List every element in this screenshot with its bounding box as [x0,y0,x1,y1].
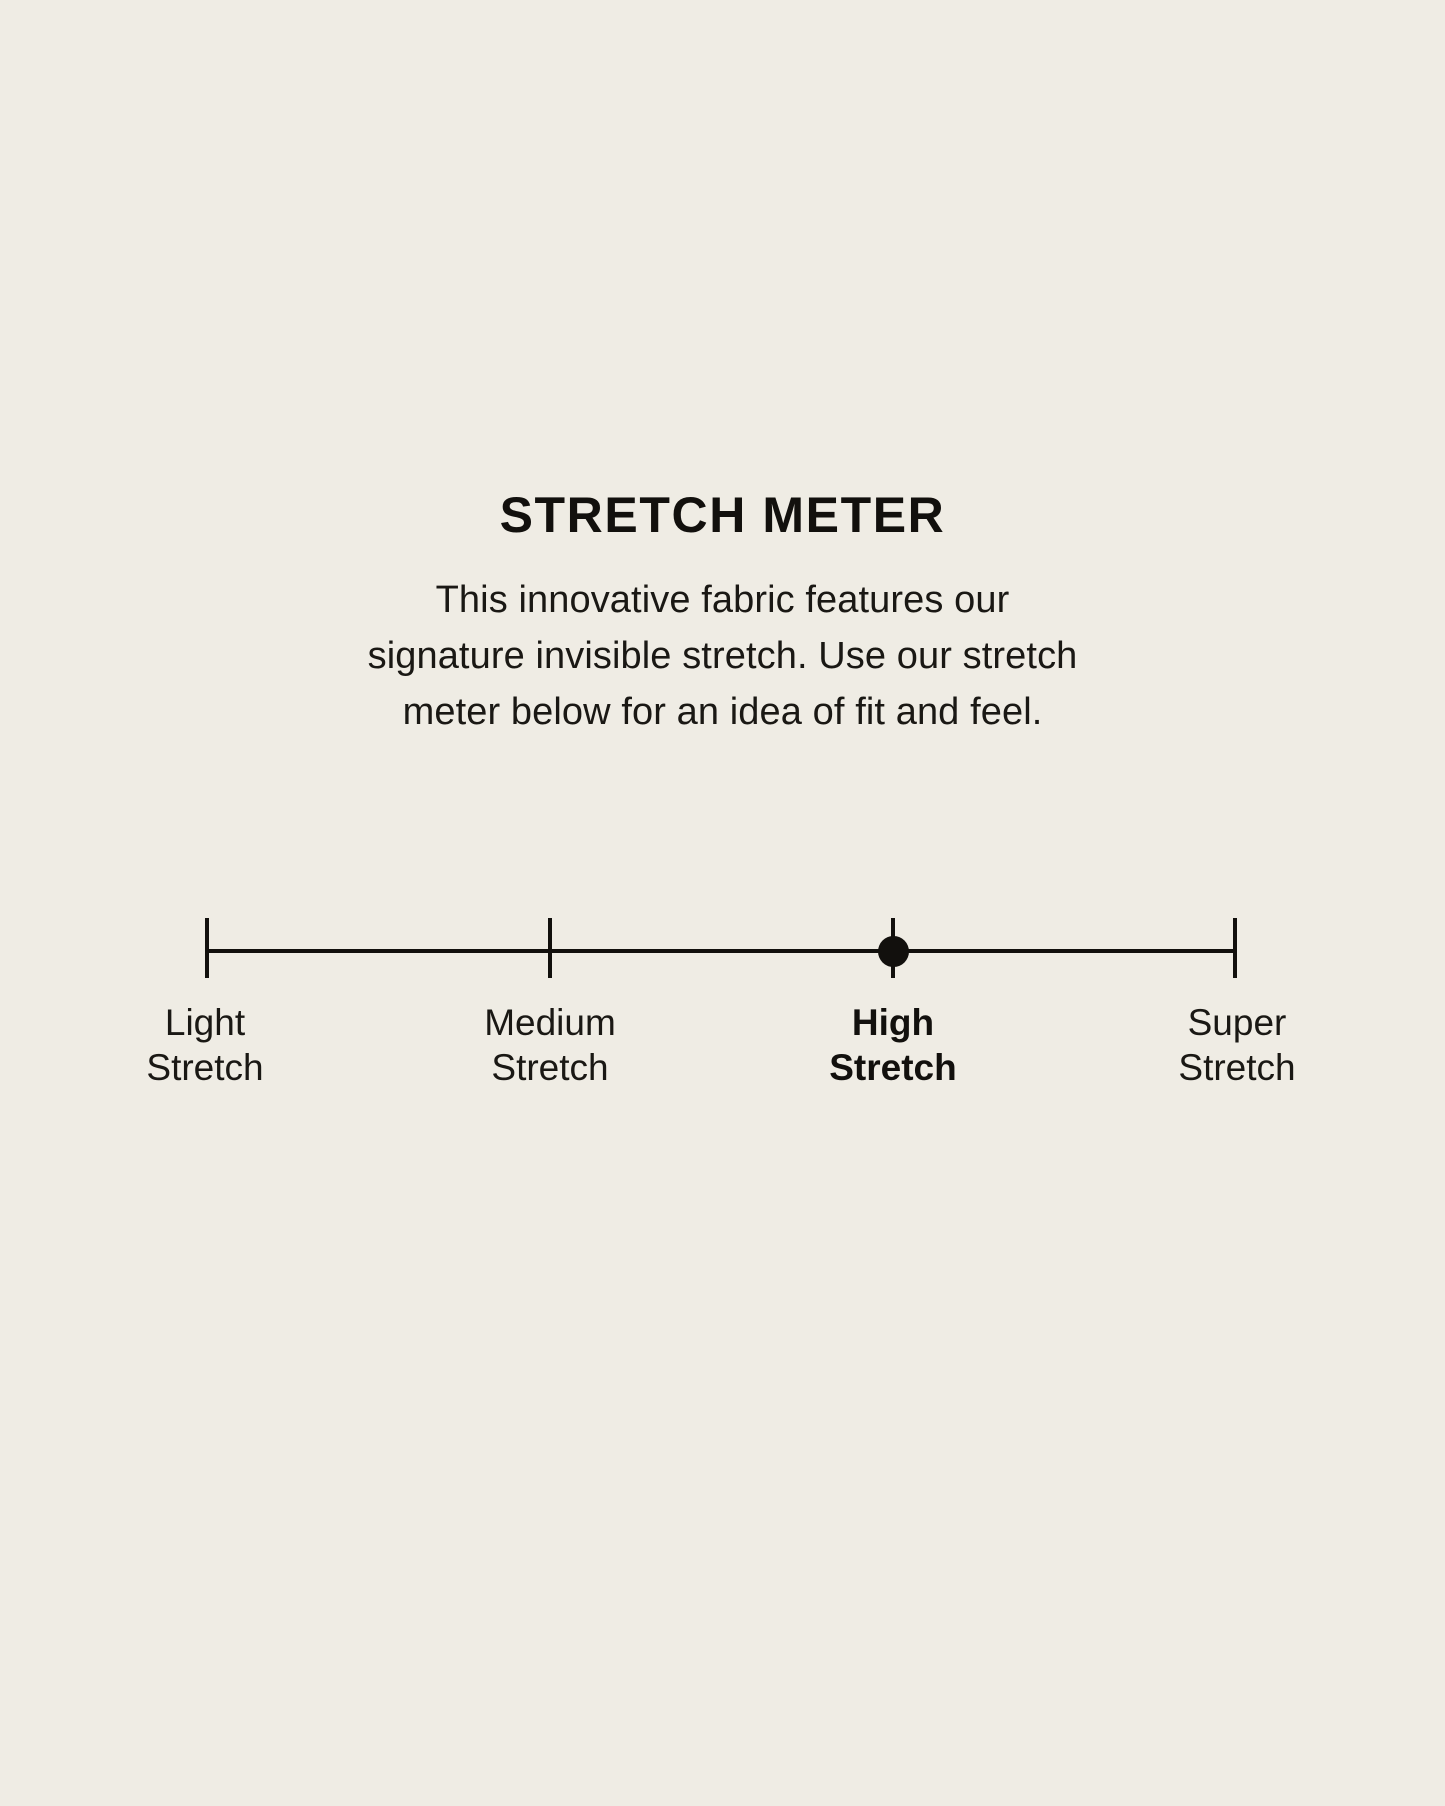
meter-label-light-line2: Stretch [55,1045,355,1090]
meter-label-light[interactable]: Light Stretch [55,1000,355,1090]
meter-label-light-line1: Light [55,1000,355,1045]
meter-label-super[interactable]: Super Stretch [1087,1000,1387,1090]
description-line-2: signature invisible stretch. Use our str… [0,628,1445,684]
meter-label-high[interactable]: High Stretch [743,1000,1043,1090]
meter-label-high-line1: High [743,1000,1043,1045]
meter-value-marker-dot [878,936,909,967]
stretch-meter-scale[interactable] [205,918,1237,978]
meter-axis-line [205,949,1237,953]
meter-tick-super[interactable] [1233,918,1237,978]
meter-label-super-line1: Super [1087,1000,1387,1045]
meter-tick-medium[interactable] [548,918,552,978]
meter-label-row: Light Stretch Medium Stretch High Stretc… [0,1000,1445,1120]
module-description: This innovative fabric features our sign… [0,544,1445,740]
meter-label-medium-line2: Stretch [400,1045,700,1090]
heading-block: STRETCH METER This innovative fabric fea… [0,486,1445,740]
meter-label-medium[interactable]: Medium Stretch [400,1000,700,1090]
stretch-meter-module: STRETCH METER This innovative fabric fea… [0,0,1445,1806]
meter-label-high-line2: Stretch [743,1045,1043,1090]
description-line-1: This innovative fabric features our [0,572,1445,628]
description-line-3: meter below for an idea of fit and feel. [0,684,1445,740]
page-title: STRETCH METER [0,486,1445,544]
meter-label-medium-line1: Medium [400,1000,700,1045]
meter-tick-light[interactable] [205,918,209,978]
meter-label-super-line2: Stretch [1087,1045,1387,1090]
